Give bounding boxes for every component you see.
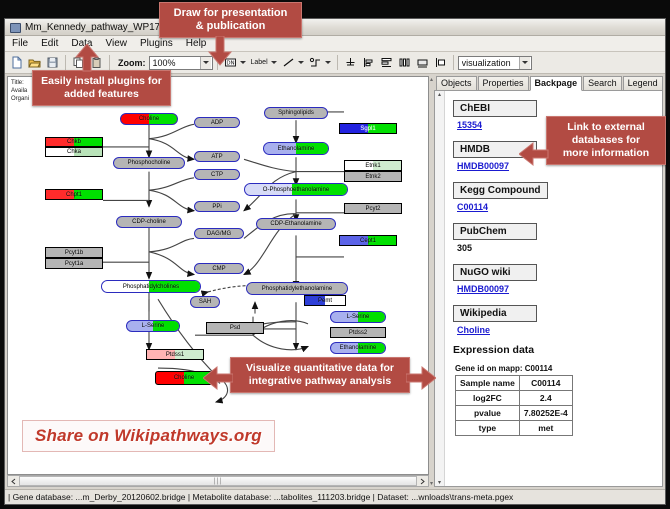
datanode-chevron-down-icon[interactable] bbox=[239, 55, 248, 70]
node-ethanolamine-bottom[interactable]: Ethanolamine bbox=[330, 342, 386, 354]
backpage-vertical-scrollbar[interactable]: ▴ ▾ bbox=[435, 91, 445, 486]
node-pcyt1b[interactable]: Pcyt1b bbox=[45, 247, 103, 258]
zoom-value: 100% bbox=[153, 58, 200, 68]
pathvisio-app-icon bbox=[9, 21, 21, 33]
node-sah-label: SAH bbox=[197, 299, 213, 305]
db-header-pubchem: PubChem bbox=[453, 223, 537, 240]
node-cept1[interactable]: Cept1 bbox=[339, 235, 397, 246]
splitter-collapse-up-icon[interactable]: ▴ bbox=[430, 76, 433, 83]
label-chevron-down-icon[interactable] bbox=[270, 55, 279, 70]
node-sphingolipids-label: Sphingolipids bbox=[276, 110, 316, 116]
scroll-down-icon[interactable]: ▾ bbox=[438, 479, 441, 486]
resize-handle-s[interactable] bbox=[182, 384, 186, 385]
visualization-chevron-down-icon[interactable] bbox=[519, 57, 530, 69]
callout-draw-line1: Draw for presentation bbox=[166, 7, 295, 20]
node-sgpl1-label: Sgpl1 bbox=[358, 126, 377, 132]
node-adp-label: ADP bbox=[209, 120, 225, 126]
align-left-icon[interactable] bbox=[360, 54, 377, 71]
db-header-nugo-wiki: NuGO wiki bbox=[453, 264, 537, 281]
expression-data-heading: Expression data bbox=[453, 344, 654, 356]
node-dag-mg[interactable]: DAG/MG bbox=[194, 228, 244, 239]
node-l-serine-left-label: L-Serine bbox=[140, 323, 167, 329]
scroll-thumb[interactable]: ||| bbox=[19, 476, 417, 486]
node-pcyt1a[interactable]: Pcyt1a bbox=[45, 258, 103, 269]
callout-links: Link to external databases for more info… bbox=[546, 116, 666, 165]
toolbar-separator-1 bbox=[65, 55, 66, 70]
label-tool-label[interactable]: Label bbox=[249, 59, 270, 66]
expression-cell-key-2: pvalue bbox=[456, 406, 520, 421]
splitter-collapse-down-icon[interactable]: ▾ bbox=[430, 480, 433, 487]
node-etnk1-label: Etnk1 bbox=[363, 163, 382, 169]
toolbar-separator-2 bbox=[109, 55, 110, 70]
table-row: Sample name C00114 bbox=[456, 376, 573, 391]
node-ethanolamine-top[interactable]: Ethanolamine bbox=[263, 142, 329, 155]
callout-visualize-line2: integrative pathway analysis bbox=[237, 375, 403, 388]
visualization-value: visualization bbox=[462, 58, 519, 68]
callout-visualize-line1: Visualize quantitative data for bbox=[237, 362, 403, 375]
line-chevron-down-icon[interactable] bbox=[297, 55, 306, 70]
save-file-icon[interactable] bbox=[44, 54, 61, 71]
node-cept1-label: Cept1 bbox=[358, 238, 378, 244]
match-size-icon[interactable] bbox=[414, 54, 431, 71]
node-ethanolamine-bottom-label: Ethanolamine bbox=[338, 345, 379, 351]
status-bar-text: | Gene database: ...m_Derby_20120602.bri… bbox=[8, 492, 513, 502]
node-dag-mg-label: DAG/MG bbox=[205, 231, 233, 237]
node-phosphocholine-label: Phosphocholine bbox=[126, 160, 173, 166]
node-etnk2[interactable]: Etnk2 bbox=[344, 171, 402, 182]
node-chpt1-label: Chpt1 bbox=[64, 192, 84, 198]
tab-search[interactable]: Search bbox=[583, 76, 622, 90]
pathway-drawing[interactable]: Title: Availa Organi bbox=[8, 77, 428, 474]
callout-visualize: Visualize quantitative data for integrat… bbox=[230, 357, 410, 393]
node-cdp-ethanolamine-label: CDP-Ethanolamine bbox=[268, 221, 323, 227]
expression-table: Sample name C00114 log2FC 2.4 pvalue 7.8… bbox=[455, 375, 573, 436]
node-phosphatidylcholines[interactable]: Phosphatidylcholines bbox=[101, 280, 201, 293]
scroll-right-icon[interactable] bbox=[417, 476, 428, 486]
pathway-canvas[interactable]: Title: Availa Organi bbox=[7, 76, 429, 475]
expression-cell-value-0: C00114 bbox=[519, 376, 572, 391]
node-phosphocholine[interactable]: Phosphocholine bbox=[113, 157, 185, 169]
anchor-tool-icon[interactable] bbox=[342, 54, 359, 71]
distribute-icon[interactable] bbox=[396, 54, 413, 71]
table-row: type met bbox=[456, 421, 573, 436]
screenshot-root: Mm_Kennedy_pathway_WP1771_45176.gpml Fil… bbox=[0, 0, 670, 509]
node-sah[interactable]: SAH bbox=[190, 296, 220, 308]
node-ppi[interactable]: PPi bbox=[194, 201, 240, 212]
node-chka-label: Chka bbox=[65, 149, 83, 155]
scroll-left-icon[interactable] bbox=[8, 476, 19, 486]
node-l-serine-left[interactable]: L-Serine bbox=[126, 320, 180, 332]
node-psd[interactable]: Psd bbox=[206, 322, 264, 334]
node-cdp-ethanolamine[interactable]: CDP-Ethanolamine bbox=[256, 218, 336, 230]
toolbar-separator-4 bbox=[337, 55, 338, 70]
node-sphingolipids[interactable]: Sphingolipids bbox=[264, 107, 328, 119]
tab-backpage[interactable]: Backpage bbox=[530, 76, 583, 91]
status-bar: | Gene database: ...m_Derby_20120602.bri… bbox=[5, 489, 665, 504]
callout-draw-arrow-icon bbox=[207, 36, 233, 66]
bring-front-icon[interactable] bbox=[432, 54, 449, 71]
expression-cell-key-3: type bbox=[456, 421, 520, 436]
node-choline-selected-label: Choline bbox=[172, 375, 196, 381]
scroll-up-icon[interactable]: ▴ bbox=[438, 91, 441, 98]
node-pcyt1b-label: Pcyt1b bbox=[63, 250, 85, 256]
open-file-icon[interactable] bbox=[26, 54, 43, 71]
resize-handle-w[interactable] bbox=[155, 376, 156, 380]
tab-legend[interactable]: Legend bbox=[623, 76, 663, 90]
callout-plugins-arrow-icon bbox=[74, 44, 100, 72]
interaction-tool-icon[interactable] bbox=[307, 54, 324, 71]
callout-visualize-arrow-left-icon bbox=[203, 365, 233, 391]
interaction-tool-group[interactable] bbox=[307, 54, 333, 71]
node-ethanolamine-top-label: Ethanolamine bbox=[276, 146, 317, 152]
visualization-combo[interactable]: visualization bbox=[458, 56, 532, 70]
callout-links-arrow-icon bbox=[519, 141, 549, 167]
node-choline-top[interactable]: Choline bbox=[120, 113, 178, 125]
node-chkb[interactable]: Chkb bbox=[45, 137, 103, 147]
node-ptdss2-label: Ptdss2 bbox=[347, 330, 369, 336]
node-phosphatidylcholines-label: Phosphatidylcholines bbox=[121, 284, 181, 290]
node-pemt[interactable]: Pemt bbox=[304, 295, 346, 306]
callout-draw: Draw for presentation & publication bbox=[159, 2, 302, 38]
node-o-phosphoethanolamine[interactable]: O-Phosphoethanolamine bbox=[244, 183, 348, 196]
expression-cell-key-1: log2FC bbox=[456, 391, 520, 406]
resize-handle-nw[interactable] bbox=[155, 371, 156, 372]
new-file-icon[interactable] bbox=[8, 54, 25, 71]
db-value-pubchem: 305 bbox=[457, 243, 654, 253]
node-sgpl1[interactable]: Sgpl1 bbox=[339, 123, 397, 134]
callout-draw-line2: & publication bbox=[166, 20, 295, 33]
db-header-wikipedia: Wikipedia bbox=[453, 305, 537, 322]
node-adp[interactable]: ADP bbox=[194, 117, 240, 128]
scroll-grip-icon: ||| bbox=[214, 478, 222, 485]
table-row: log2FC 2.4 bbox=[456, 391, 573, 406]
callout-plugins-line1: Easily install plugins for bbox=[39, 75, 164, 88]
line-tool-icon[interactable] bbox=[280, 54, 297, 71]
node-chkb-label: Chkb bbox=[65, 139, 83, 145]
node-cdp-choline-label: CDP-choline bbox=[130, 219, 168, 225]
canvas-horizontal-scrollbar[interactable]: ||| bbox=[7, 475, 429, 487]
node-ctp-label: CTP bbox=[209, 172, 225, 178]
node-pcyt2-label: Pcyt2 bbox=[363, 206, 382, 212]
expression-cell-value-1: 2.4 bbox=[519, 391, 572, 406]
node-atp-label: ATP bbox=[209, 154, 224, 160]
node-ptdss1-label: Ptdss1 bbox=[164, 352, 186, 358]
interaction-chevron-down-icon[interactable] bbox=[324, 55, 333, 70]
node-o-phosphoethanolamine-label: O-Phosphoethanolamine bbox=[261, 187, 331, 193]
node-pcyt1a-label: Pcyt1a bbox=[63, 261, 85, 267]
resize-handle-n[interactable] bbox=[182, 371, 186, 372]
callout-plugins-line2: added features bbox=[39, 88, 164, 101]
callout-plugins: Easily install plugins for added feature… bbox=[32, 70, 171, 106]
expression-gene-id: Gene id on mapp: C00114 bbox=[455, 364, 654, 373]
node-choline-top-label: Choline bbox=[137, 116, 161, 122]
node-pemt-label: Pemt bbox=[316, 298, 334, 304]
node-ptdss1[interactable]: Ptdss1 bbox=[146, 349, 204, 360]
db-link-kegg-compound[interactable]: C00114 bbox=[457, 202, 654, 212]
tab-objects[interactable]: Objects bbox=[436, 76, 477, 90]
table-row: pvalue 7.80252E-4 bbox=[456, 406, 573, 421]
tab-properties[interactable]: Properties bbox=[478, 76, 529, 90]
stack-vertical-icon[interactable] bbox=[378, 54, 395, 71]
menu-item-help[interactable]: Help bbox=[184, 37, 209, 50]
menu-item-file[interactable]: File bbox=[10, 37, 30, 50]
callout-links-line2: databases for bbox=[553, 134, 659, 147]
node-chka[interactable]: Chka bbox=[45, 147, 103, 157]
zoom-label: Zoom: bbox=[118, 58, 146, 68]
node-ctp[interactable]: CTP bbox=[194, 169, 240, 180]
line-tool-group[interactable] bbox=[280, 54, 306, 71]
db-link-nugo-wiki[interactable]: HMDB00097 bbox=[457, 284, 654, 294]
callout-links-line1: Link to external bbox=[553, 121, 659, 134]
menu-item-edit[interactable]: Edit bbox=[39, 37, 60, 50]
side-panel-tabs: Objects Properties Backpage Search Legen… bbox=[434, 76, 663, 90]
node-phosphatidylethanolamine-label: Phosphatidylethanolamine bbox=[260, 286, 334, 292]
expression-cell-value-3: met bbox=[519, 421, 572, 436]
node-ppi-label: PPi bbox=[210, 204, 223, 210]
menu-item-view[interactable]: View bbox=[103, 37, 129, 50]
node-ptdss2[interactable]: Ptdss2 bbox=[330, 327, 386, 338]
node-etnk2-label: Etnk2 bbox=[363, 174, 382, 180]
menu-bar: File Edit Data View Plugins Help bbox=[5, 36, 665, 52]
node-cmp[interactable]: CMP bbox=[194, 263, 244, 274]
callout-share: Share on Wikipathways.org bbox=[22, 420, 275, 452]
db-header-kegg-compound: Kegg Compound bbox=[453, 182, 548, 199]
node-atp[interactable]: ATP bbox=[194, 151, 240, 162]
node-cmp-label: CMP bbox=[210, 266, 227, 272]
node-l-serine-right[interactable]: L-Serine bbox=[330, 311, 386, 323]
node-l-serine-right-label: L-Serine bbox=[345, 314, 372, 320]
callout-visualize-arrow-right-icon bbox=[406, 365, 436, 391]
db-link-wikipedia[interactable]: Choline bbox=[457, 325, 654, 335]
node-pcyt2[interactable]: Pcyt2 bbox=[344, 203, 402, 214]
node-cdp-choline[interactable]: CDP-choline bbox=[116, 216, 182, 228]
label-tool-group[interactable]: Label bbox=[249, 55, 279, 70]
db-header-chebi: ChEBI bbox=[453, 100, 537, 117]
menu-item-plugins[interactable]: Plugins bbox=[138, 37, 175, 50]
callout-links-line3: more information bbox=[553, 147, 659, 160]
node-phosphatidylethanolamine[interactable]: Phosphatidylethanolamine bbox=[246, 282, 348, 295]
toolbar-separator-5 bbox=[453, 55, 454, 70]
zoom-combo[interactable]: 100% bbox=[149, 56, 213, 70]
title-bar: Mm_Kennedy_pathway_WP1771_45176.gpml bbox=[5, 19, 665, 36]
expression-cell-value-2: 7.80252E-4 bbox=[519, 406, 572, 421]
node-etnk1[interactable]: Etnk1 bbox=[344, 160, 402, 171]
node-psd-label: Psd bbox=[228, 325, 242, 331]
expression-cell-key-0: Sample name bbox=[456, 376, 520, 391]
node-chpt1[interactable]: Chpt1 bbox=[45, 189, 103, 200]
